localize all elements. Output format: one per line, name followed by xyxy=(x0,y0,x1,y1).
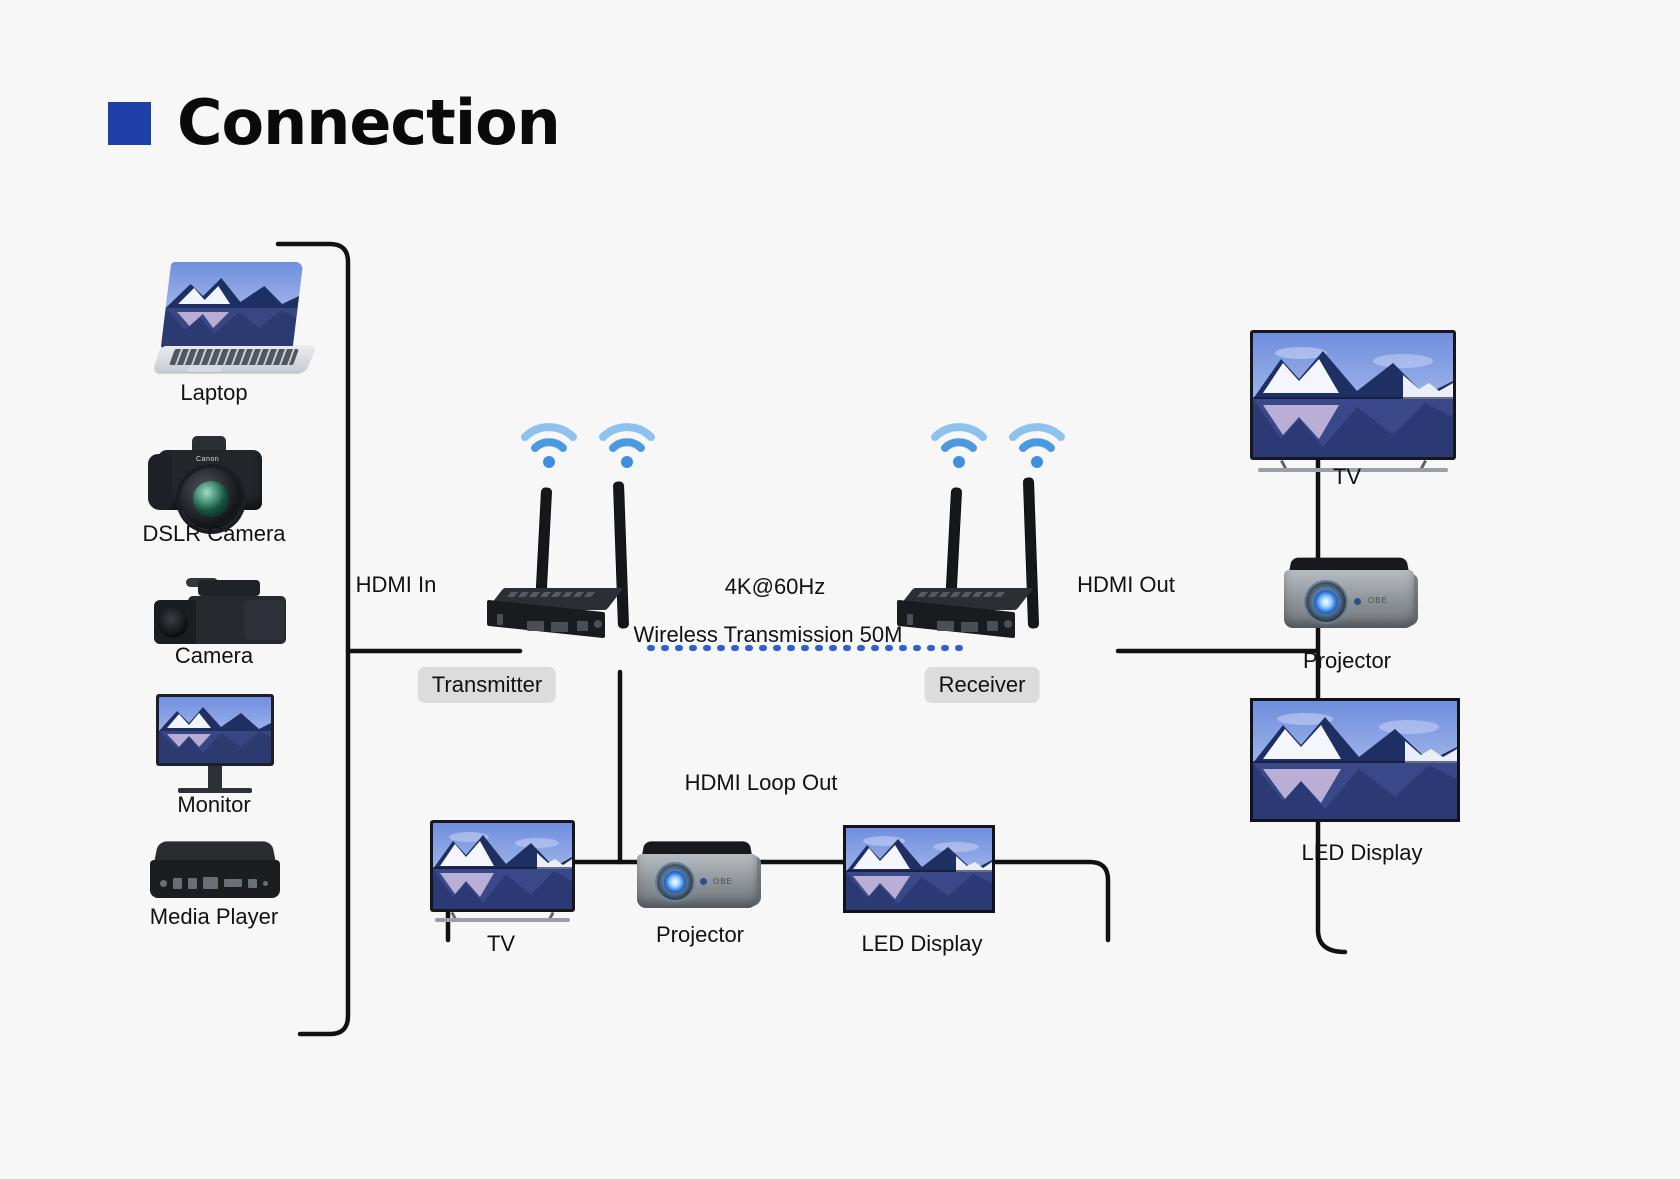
hdmi-in-label: HDMI In xyxy=(356,572,437,598)
output-label-projector: Projector xyxy=(1303,648,1391,674)
camcorder-icon xyxy=(148,570,298,654)
hdmi-loop-out-label: HDMI Loop Out xyxy=(685,770,838,796)
output-label-led-display: LED Display xyxy=(1301,840,1422,866)
laptop-icon xyxy=(158,262,318,380)
wireless-resolution-label: 4K@60Hz xyxy=(725,574,826,600)
tv-icon xyxy=(1250,330,1456,470)
receiver-badge: Receiver xyxy=(925,667,1040,703)
wireless-receiver-icon xyxy=(905,588,1035,648)
wifi-icon xyxy=(1008,420,1066,472)
source-label-dslr-camera: DSLR Camera xyxy=(142,521,285,547)
source-label-monitor: Monitor xyxy=(177,792,250,818)
source-label-media-player: Media Player xyxy=(150,904,278,930)
wireless-transmission-label: Wireless Transmission 50M xyxy=(634,622,903,648)
output-label-tv: TV xyxy=(1333,464,1361,490)
hdmi-out-label: HDMI Out xyxy=(1077,572,1175,598)
connection-diagram: Connection xyxy=(0,0,1680,1179)
media-player-icon xyxy=(150,840,282,902)
source-label-laptop: Laptop xyxy=(180,380,247,406)
tv-icon xyxy=(430,820,575,920)
loop-out-label-led-display: LED Display xyxy=(861,931,982,957)
loop-out-label-projector: Projector xyxy=(656,922,744,948)
monitor-icon xyxy=(156,694,276,794)
source-label-camera: Camera xyxy=(175,643,253,669)
wireless-transmitter-icon xyxy=(495,588,625,648)
transmitter-badge: Transmitter xyxy=(418,667,556,703)
projector-icon: OBE xyxy=(1284,556,1424,634)
loop-out-label-tv: TV xyxy=(487,931,515,957)
projector-icon: OBE xyxy=(637,840,767,914)
wifi-icon xyxy=(930,420,988,472)
wifi-icon xyxy=(598,420,656,472)
led-display-icon xyxy=(843,825,995,913)
wifi-icon xyxy=(520,420,578,472)
led-display-icon xyxy=(1250,698,1460,822)
